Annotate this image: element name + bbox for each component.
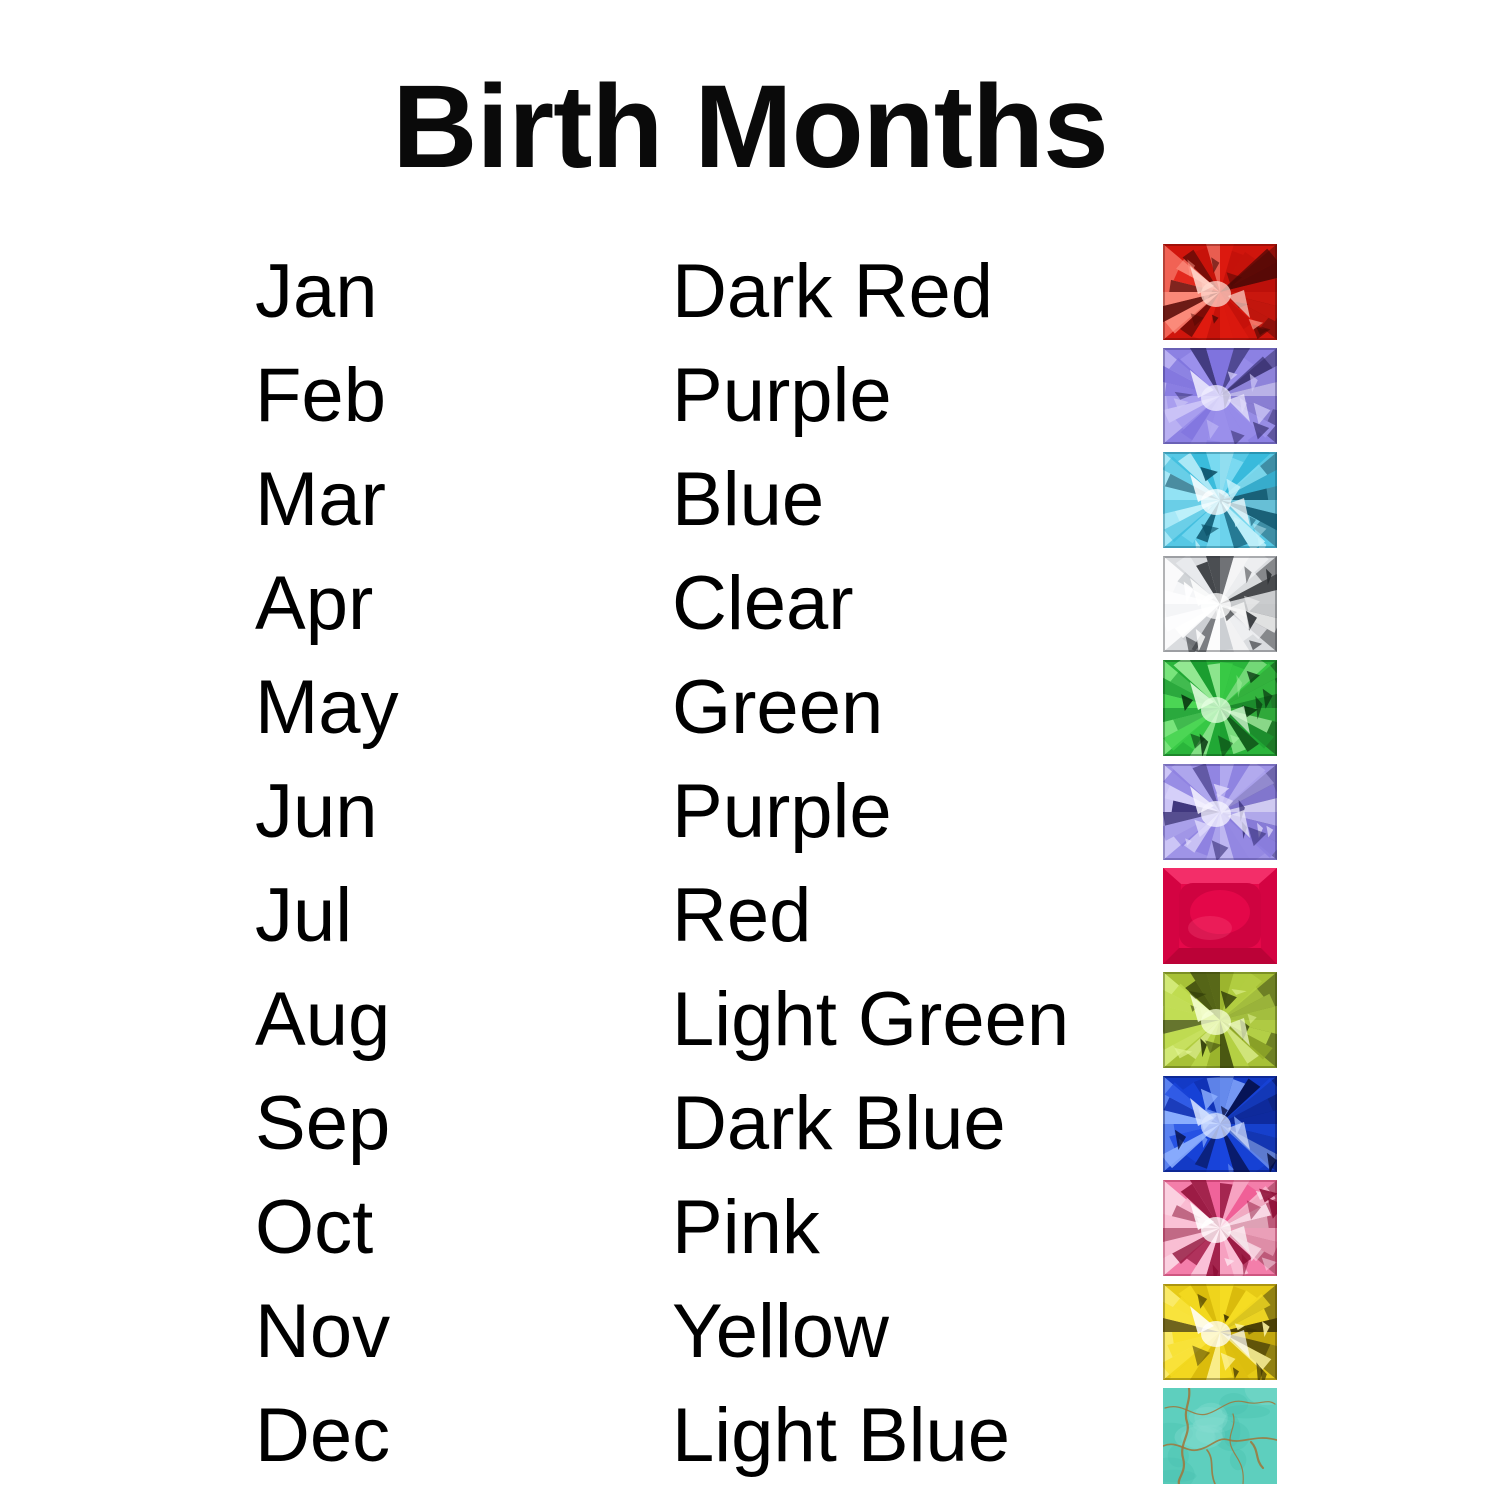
gemstone-purple-icon: [1163, 348, 1277, 444]
month-label: Nov: [255, 1284, 390, 1380]
table-row: JunPurple: [0, 764, 1500, 868]
color-label: Pink: [672, 1180, 820, 1276]
month-label: Feb: [255, 348, 386, 444]
month-label: Mar: [255, 452, 386, 548]
color-label: Green: [672, 660, 883, 756]
gemstone-yellow-icon: [1163, 1284, 1277, 1380]
gemstone-dark-blue-icon: [1163, 1076, 1277, 1172]
color-label: Clear: [672, 556, 854, 652]
month-label: Apr: [255, 556, 373, 652]
gemstone-swatch: [1163, 764, 1277, 860]
table-row: DecLight Blue: [0, 1388, 1500, 1492]
color-label: Purple: [672, 348, 892, 444]
birth-months-table: JanDark RedFebPurpleMarBlueAprClearMayGr…: [0, 244, 1500, 1492]
month-label: Aug: [255, 972, 390, 1068]
gemstone-swatch: [1163, 556, 1277, 652]
month-label: Jun: [255, 764, 378, 860]
table-row: JulRed: [0, 868, 1500, 972]
gemstone-pink-icon: [1163, 1180, 1277, 1276]
gemstone-clear-icon: [1163, 556, 1277, 652]
table-row: OctPink: [0, 1180, 1500, 1284]
month-label: Jul: [255, 868, 352, 964]
table-row: JanDark Red: [0, 244, 1500, 348]
color-label: Yellow: [672, 1284, 889, 1380]
gemstone-light-purple-icon: [1163, 764, 1277, 860]
gemstone-turquoise-icon: [1163, 1388, 1277, 1484]
table-row: NovYellow: [0, 1284, 1500, 1388]
birth-months-page: Birth Months JanDark RedFebPurpleMarBlue…: [0, 0, 1500, 1500]
month-label: Dec: [255, 1388, 390, 1484]
color-label: Light Green: [672, 972, 1069, 1068]
gemstone-swatch: [1163, 244, 1277, 340]
table-row: AprClear: [0, 556, 1500, 660]
gemstone-green-icon: [1163, 660, 1277, 756]
color-label: Dark Red: [672, 244, 993, 340]
color-label: Dark Blue: [672, 1076, 1006, 1172]
gemstone-swatch: [1163, 868, 1277, 964]
gemstone-aqua-blue-icon: [1163, 452, 1277, 548]
month-label: Sep: [255, 1076, 390, 1172]
table-row: SepDark Blue: [0, 1076, 1500, 1180]
gemstone-swatch: [1163, 1180, 1277, 1276]
page-title: Birth Months: [0, 64, 1500, 191]
gemstone-light-green-icon: [1163, 972, 1277, 1068]
color-label: Red: [672, 868, 811, 964]
table-row: MayGreen: [0, 660, 1500, 764]
month-label: May: [255, 660, 399, 756]
gemstone-swatch: [1163, 1076, 1277, 1172]
color-label: Blue: [672, 452, 824, 548]
gemstone-swatch: [1163, 452, 1277, 548]
gemstone-swatch: [1163, 972, 1277, 1068]
color-label: Purple: [672, 764, 892, 860]
gemstone-dark-red-icon: [1163, 244, 1277, 340]
gemstone-swatch: [1163, 348, 1277, 444]
gemstone-swatch: [1163, 1388, 1277, 1484]
color-label: Light Blue: [672, 1388, 1010, 1484]
gemstone-red-icon: [1163, 868, 1277, 964]
table-row: MarBlue: [0, 452, 1500, 556]
month-label: Jan: [255, 244, 378, 340]
table-row: AugLight Green: [0, 972, 1500, 1076]
month-label: Oct: [255, 1180, 373, 1276]
gemstone-swatch: [1163, 1284, 1277, 1380]
gemstone-swatch: [1163, 660, 1277, 756]
table-row: FebPurple: [0, 348, 1500, 452]
